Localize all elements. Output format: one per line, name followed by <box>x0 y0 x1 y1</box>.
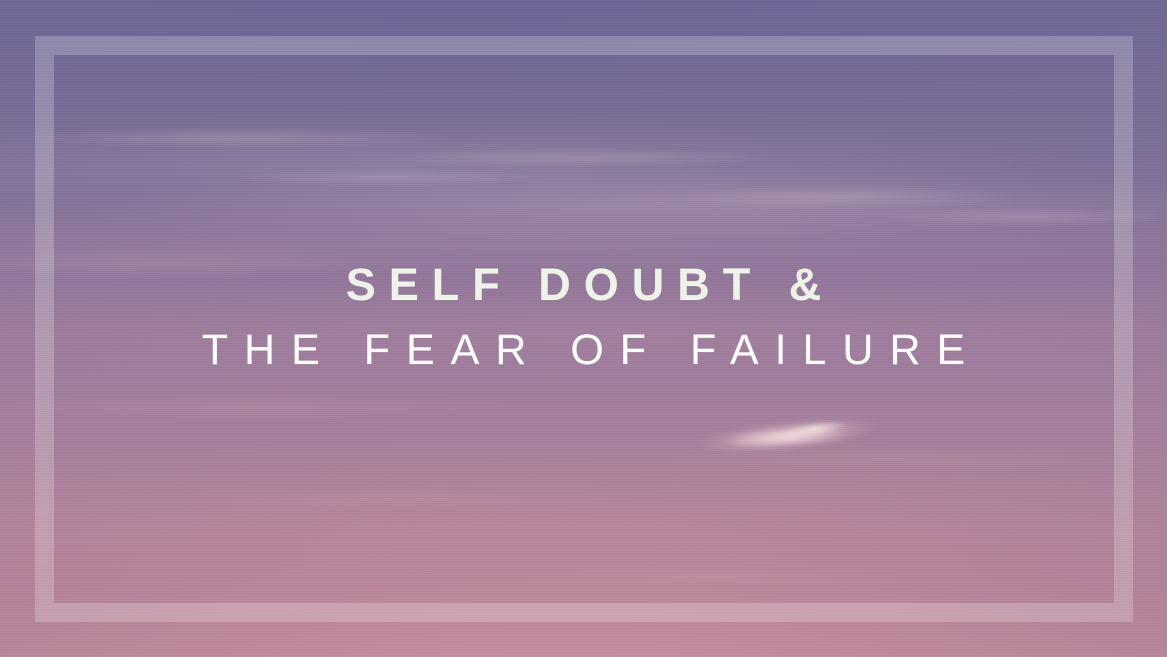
cloud-wisp-layer <box>0 0 1167 657</box>
poster-canvas: SELF DOUBT & THE FEAR OF FAILURE <box>0 0 1167 657</box>
